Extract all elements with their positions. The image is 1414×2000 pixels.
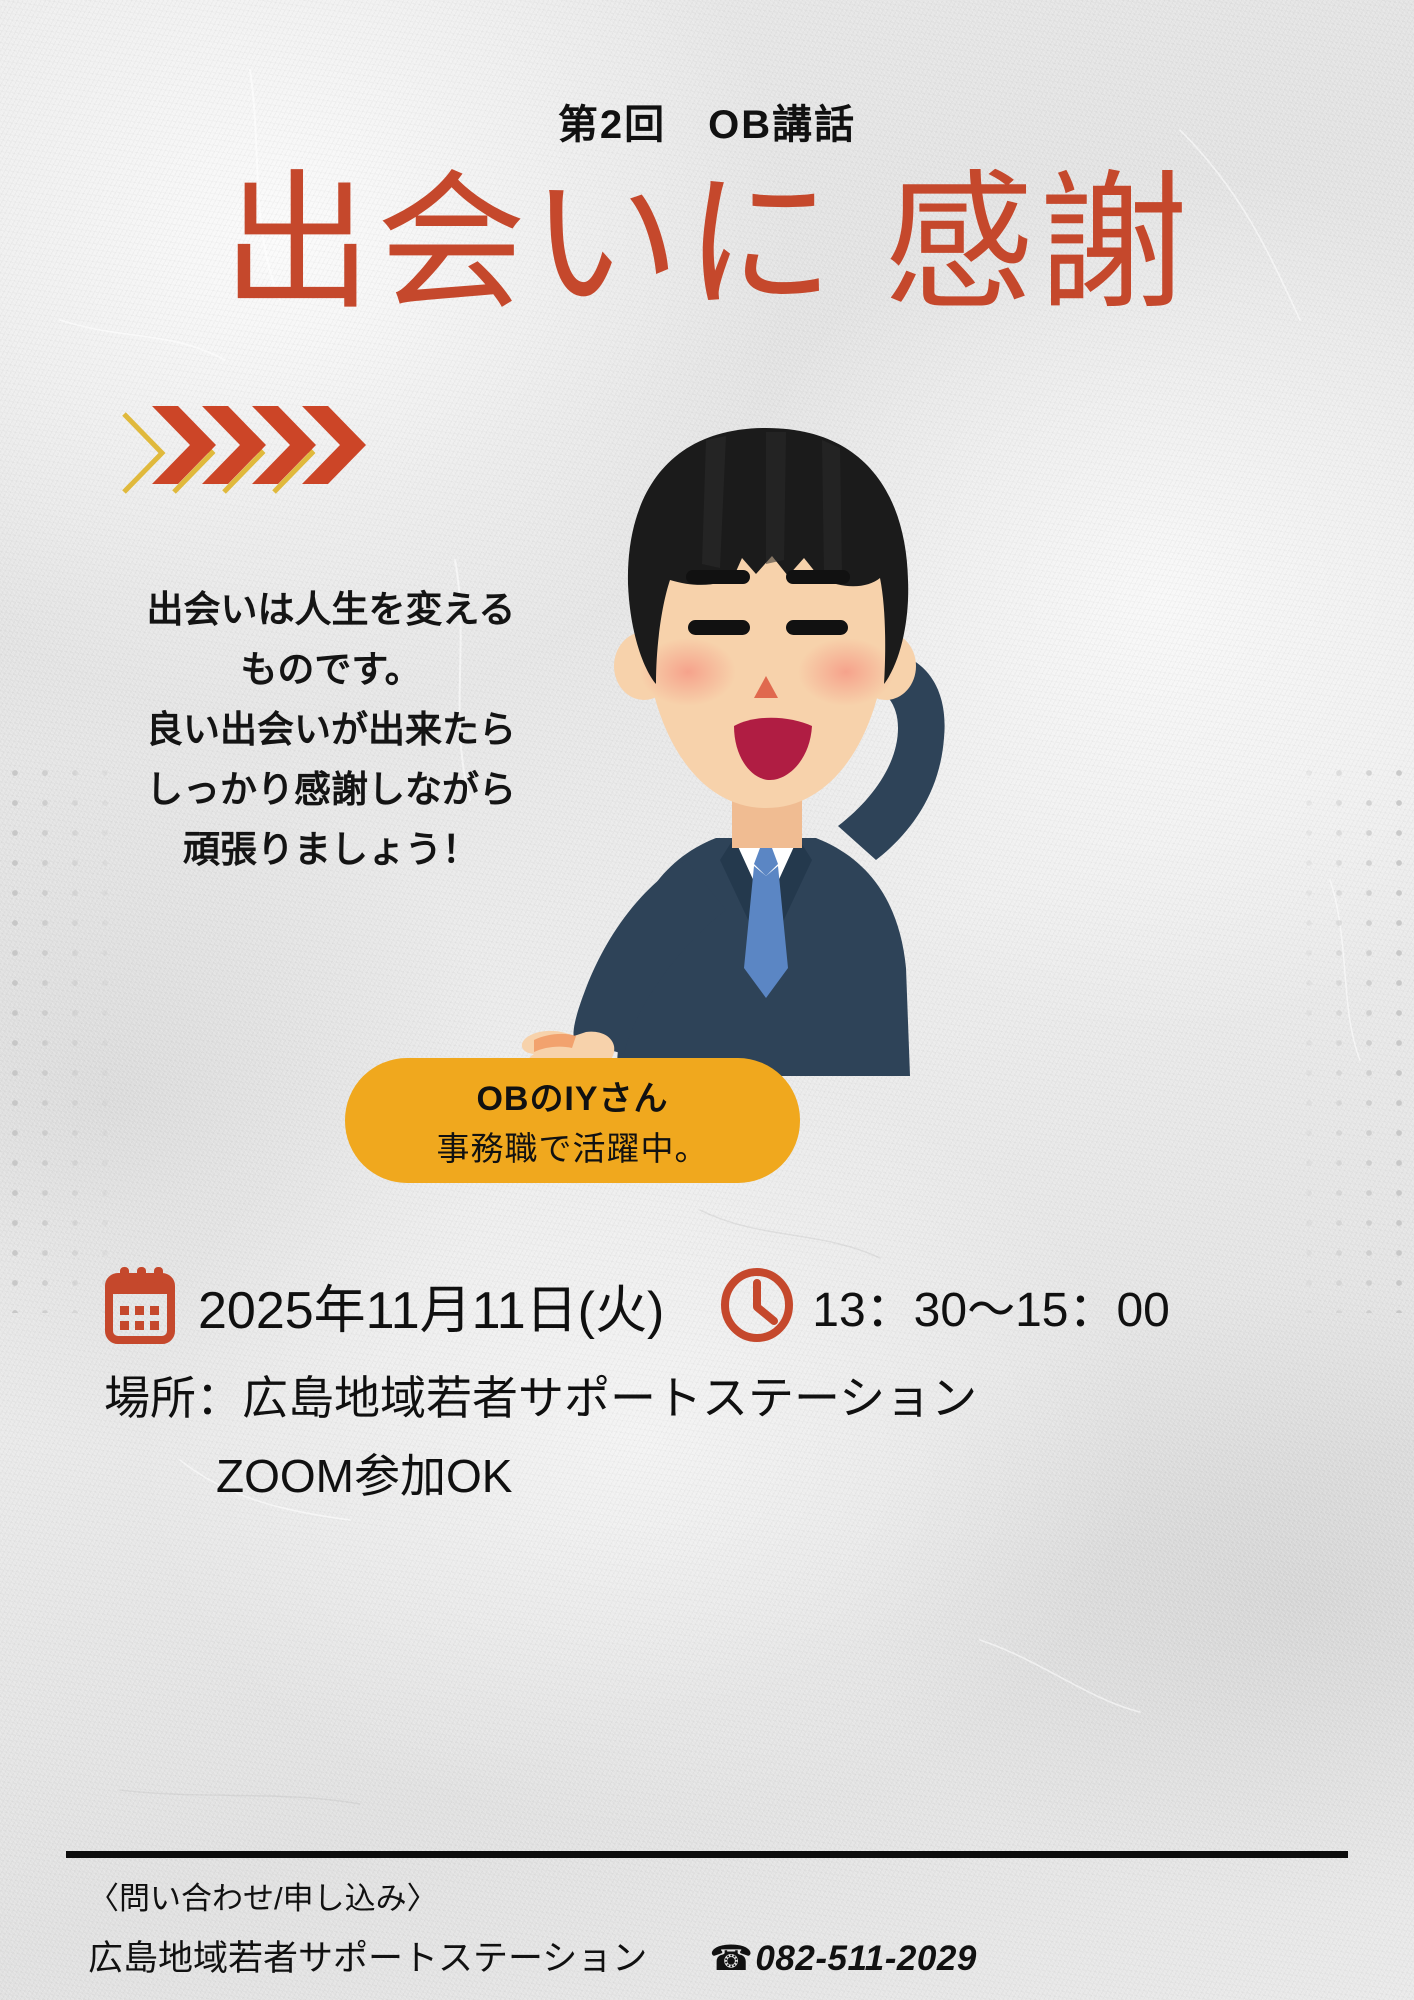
cheek-right: [798, 638, 894, 706]
poster-title: 出会いに 感謝: [0, 150, 1414, 338]
contact-label: 〈問い合わせ/申し込み〉: [88, 1873, 1338, 1918]
speaker-name: OBのIYさん: [476, 1071, 668, 1120]
eye-right: [786, 620, 848, 635]
event-date: 2025年11月11日(火): [198, 1268, 664, 1343]
poster-canvas: 第2回 OB講話 出会いに 感謝 出会いは人生を変える ものです。 良い出会いが…: [0, 0, 1414, 2000]
footer-divider: [66, 1851, 1348, 1858]
speaker-role: 事務職で活躍中。: [437, 1122, 709, 1170]
telephone-icon: ☎: [709, 1939, 753, 1978]
event-series-label: 第2回 OB講話: [0, 92, 1414, 150]
clock-icon: [720, 1267, 794, 1343]
footer-contact-block: 〈問い合わせ/申し込み〉 広島地域若者サポートステーション ☎082-511-2…: [88, 1873, 1338, 1981]
zoom-availability: ZOOM参加OK: [0, 1440, 1414, 1506]
speaker-badge: OBのIYさん 事務職で活躍中。: [345, 1058, 800, 1183]
lead-message-text: 出会いは人生を変える ものです。 良い出会いが出来たら しっかり感謝しながら 頑…: [106, 580, 556, 880]
calendar-icon: [104, 1265, 176, 1345]
businessman-illustration: [520, 408, 990, 1078]
chevron-right-arrows: [118, 398, 418, 508]
halftone-dots-left: [0, 758, 120, 1313]
eye-left: [688, 620, 750, 635]
date-time-row: 2025年11月11日(火) 13：30〜15：00: [0, 1262, 1414, 1348]
event-info-block: 2025年11月11日(火) 13：30〜15：00 場所：広島地域若者サポート…: [0, 1262, 1414, 1506]
event-venue: 場所：広島地域若者サポートステーション: [0, 1362, 1414, 1428]
eyebrow-right: [786, 570, 850, 584]
eyebrow-left: [686, 570, 750, 584]
contact-phone-number: 082-511-2029: [755, 1939, 976, 1978]
halftone-dots-right: [1294, 758, 1414, 1313]
event-time: 13：30〜15：00: [812, 1270, 1170, 1340]
time-group: 13：30〜15：00: [720, 1267, 1170, 1343]
contact-phone: ☎082-511-2029: [709, 1939, 976, 1979]
contact-row: 広島地域若者サポートステーション ☎082-511-2029: [88, 1930, 1338, 1981]
contact-organization: 広島地域若者サポートステーション: [88, 1930, 647, 1981]
